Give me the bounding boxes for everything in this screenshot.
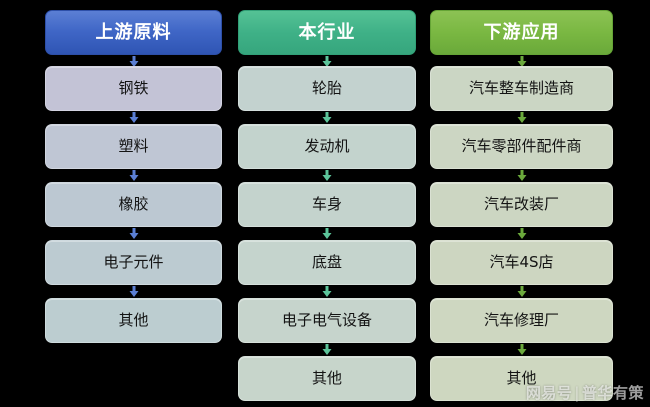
node-industry-0[interactable]: 轮胎 (238, 66, 416, 111)
column-industry: 本行业轮胎发动机车身底盘电子电气设备其他 (238, 0, 416, 407)
node-downstream-4[interactable]: 汽车修理厂 (430, 298, 613, 343)
arrow-down-icon (517, 170, 526, 181)
arrow-down-icon (517, 344, 526, 355)
node-downstream-2[interactable]: 汽车改装厂 (430, 182, 613, 227)
node-upstream-3[interactable]: 电子元件 (45, 240, 222, 285)
arrow-down-icon (517, 286, 526, 297)
node-industry-1[interactable]: 发动机 (238, 124, 416, 169)
arrow-down-icon (129, 112, 138, 123)
node-industry-5[interactable]: 其他 (238, 356, 416, 401)
arrow-down-icon (323, 112, 332, 123)
industry-chain-diagram: 上游原料钢铁塑料橡胶电子元件其他本行业轮胎发动机车身底盘电子电气设备其他下游应用… (0, 0, 650, 407)
column-header-industry[interactable]: 本行业 (238, 10, 416, 55)
node-industry-2[interactable]: 车身 (238, 182, 416, 227)
node-industry-3[interactable]: 底盘 (238, 240, 416, 285)
node-downstream-0[interactable]: 汽车整车制造商 (430, 66, 613, 111)
node-upstream-4[interactable]: 其他 (45, 298, 222, 343)
arrow-down-icon (323, 286, 332, 297)
arrow-down-icon (129, 228, 138, 239)
arrow-down-icon (129, 170, 138, 181)
node-downstream-1[interactable]: 汽车零部件配件商 (430, 124, 613, 169)
node-downstream-3[interactable]: 汽车4S店 (430, 240, 613, 285)
node-industry-4[interactable]: 电子电气设备 (238, 298, 416, 343)
arrow-down-icon (323, 170, 332, 181)
node-downstream-5[interactable]: 其他 (430, 356, 613, 401)
column-upstream: 上游原料钢铁塑料橡胶电子元件其他 (45, 0, 222, 407)
arrow-down-icon (323, 228, 332, 239)
column-header-downstream[interactable]: 下游应用 (430, 10, 613, 55)
node-upstream-1[interactable]: 塑料 (45, 124, 222, 169)
arrow-down-icon (517, 112, 526, 123)
node-upstream-2[interactable]: 橡胶 (45, 182, 222, 227)
node-upstream-0[interactable]: 钢铁 (45, 66, 222, 111)
column-header-upstream[interactable]: 上游原料 (45, 10, 222, 55)
column-downstream: 下游应用汽车整车制造商汽车零部件配件商汽车改装厂汽车4S店汽车修理厂其他 (430, 0, 613, 407)
arrow-down-icon (323, 344, 332, 355)
arrow-down-icon (129, 286, 138, 297)
arrow-down-icon (517, 228, 526, 239)
